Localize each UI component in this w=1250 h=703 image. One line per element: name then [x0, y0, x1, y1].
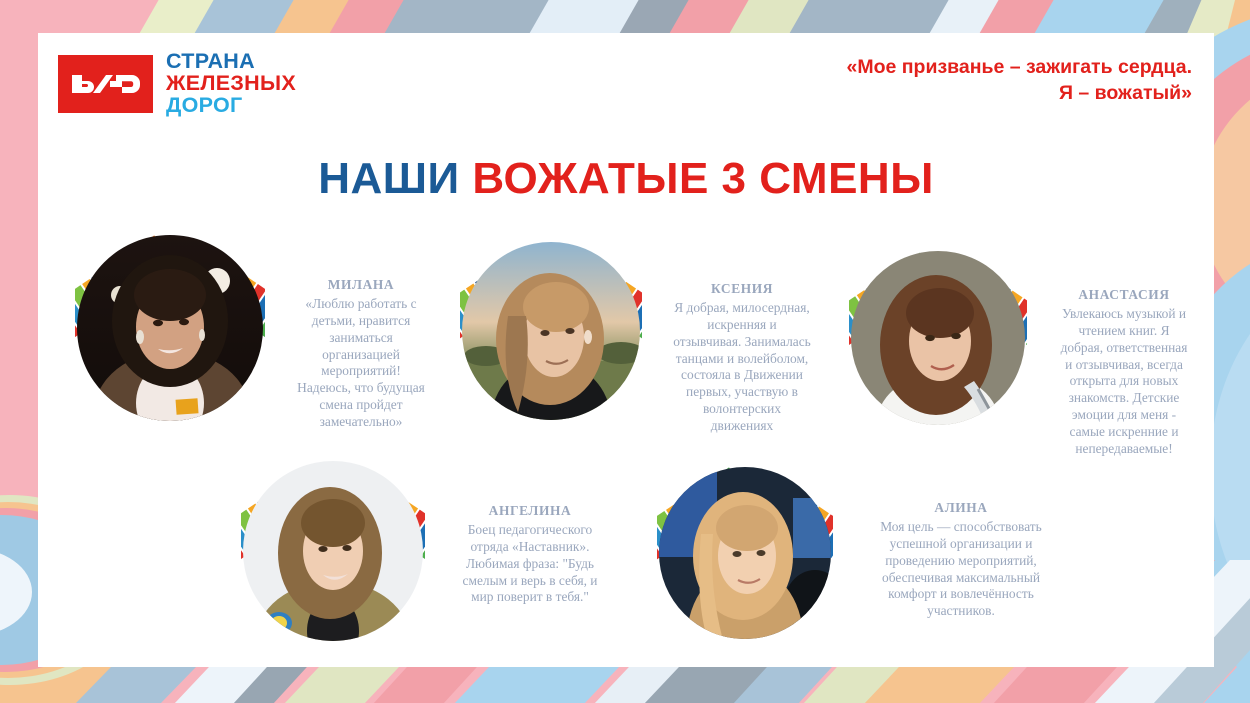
person-photo — [851, 251, 1025, 446]
photo-hexagon-frame — [643, 438, 848, 658]
brand-logo: СТРАНА ЖЕЛЕЗНЫХ ДОРОГ — [58, 51, 296, 117]
page-title: НАШИ ВОЖАТЫЕ 3 СМЕНЫ — [38, 154, 1214, 204]
rzd-logo-icon — [58, 55, 153, 113]
person-description: Я добрая, милосердная, искренняя и отзыв… — [648, 300, 836, 435]
person-card: АЛИНА Моя цель — способствовать успешной… — [643, 438, 1083, 668]
person-bio: МИЛАНА «Люблю работать с детьми, нравитс… — [272, 277, 450, 431]
photo-hexagon-frame — [226, 431, 441, 661]
person-bio: АНГЕЛИНА Боец педагогического отряда «На… — [434, 503, 626, 606]
slide-tagline: «Мое призванье – зажигать сердца. Я – во… — [847, 55, 1193, 106]
logo-word-3: ДОРОГ — [166, 95, 296, 117]
person-photo — [77, 235, 263, 443]
person-name: АНАСТАСИЯ — [1032, 287, 1216, 304]
person-name: МИЛАНА — [272, 277, 450, 294]
person-description: Моя цель — способствовать успешной орган… — [841, 519, 1081, 620]
person-bio: КСЕНИЯ Я добрая, милосердная, искренняя … — [648, 281, 836, 435]
photo-hexagon-frame — [446, 211, 656, 441]
photo-hexagon-frame — [836, 221, 1041, 446]
page-title-part-1: НАШИ — [318, 154, 459, 203]
person-card: АНАСТАСИЯ Увлекаюсь музыкой и чтением кн… — [836, 221, 1216, 461]
person-name: КСЕНИЯ — [648, 281, 836, 298]
slide-card: СТРАНА ЖЕЛЕЗНЫХ ДОРОГ «Мое призванье – з… — [38, 33, 1214, 667]
person-card: КСЕНИЯ Я добрая, милосердная, искренняя … — [446, 211, 836, 451]
person-name: АНГЕЛИНА — [434, 503, 626, 520]
person-description: Боец педагогического отряда «Наставник».… — [434, 522, 626, 606]
person-card: МИЛАНА «Люблю работать с детьми, нравитс… — [60, 203, 450, 443]
person-card: АНГЕЛИНА Боец педагогического отряда «На… — [226, 431, 626, 661]
person-description: Увлекаюсь музыкой и чтением книг. Я добр… — [1032, 306, 1216, 458]
person-photo — [243, 461, 423, 661]
person-description: «Люблю работать с детьми, нравится заним… — [272, 296, 450, 431]
person-bio: АНАСТАСИЯ Увлекаюсь музыкой и чтением кн… — [1032, 287, 1216, 458]
page-title-part-2: ВОЖАТЫЕ 3 СМЕНЫ — [472, 154, 933, 203]
person-bio: АЛИНА Моя цель — способствовать успешной… — [841, 500, 1081, 620]
person-name: АЛИНА — [841, 500, 1081, 517]
photo-hexagon-frame — [60, 203, 280, 443]
logo-word-2: ЖЕЛЕЗНЫХ — [166, 73, 296, 95]
logo-word-1: СТРАНА — [166, 51, 296, 73]
